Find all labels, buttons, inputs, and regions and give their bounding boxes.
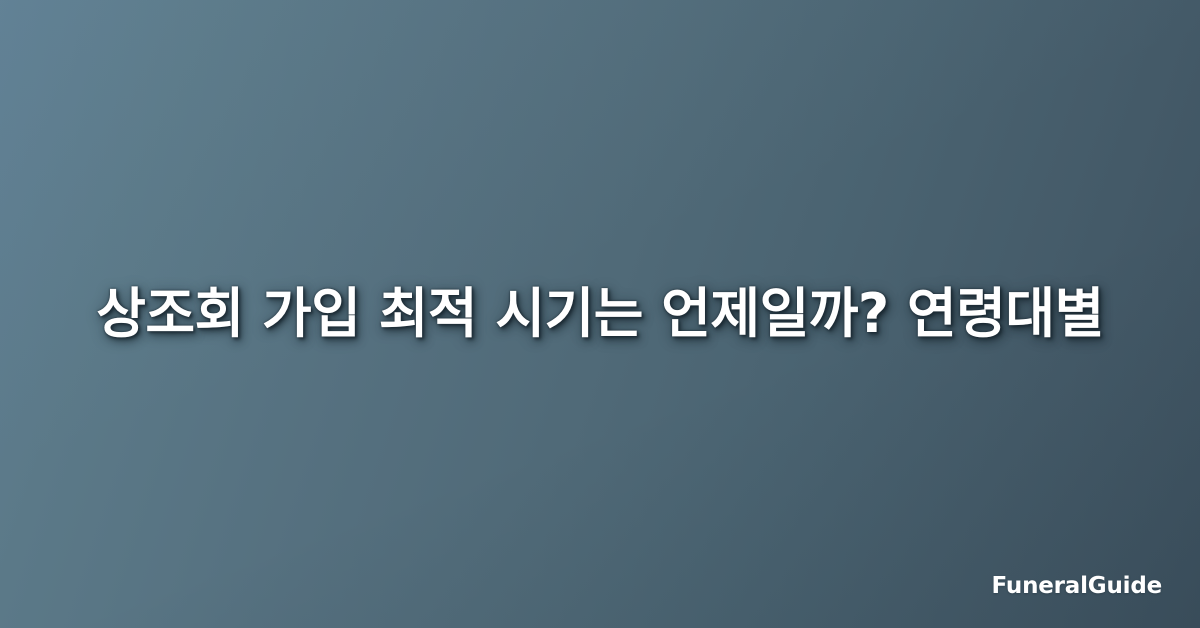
headline-container: 상조회 가입 최적 시기는 언제일까? 연령대별 (0, 0, 1200, 628)
brand-watermark: FuneralGuide (992, 575, 1162, 598)
open-graph-card: 상조회 가입 최적 시기는 언제일까? 연령대별 FuneralGuide (0, 0, 1200, 628)
page-title: 상조회 가입 최적 시기는 언제일까? 연령대별 (96, 279, 1104, 349)
